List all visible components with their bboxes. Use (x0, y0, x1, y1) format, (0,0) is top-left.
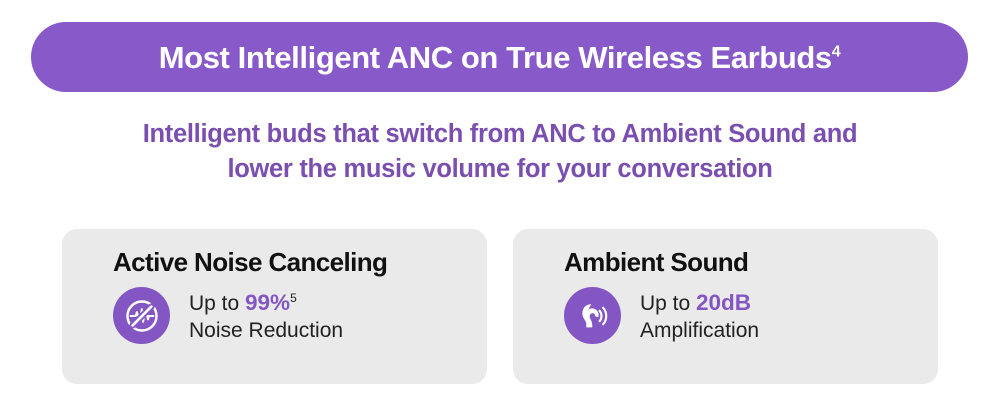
card-text-anc: Up to 99%5 Noise Reduction (189, 285, 343, 344)
card-stat-value-anc: 99% (245, 290, 290, 315)
card-active-noise-canceling: Active Noise Canceling (62, 229, 487, 384)
card-stat-prefix-ambient: Up to (640, 292, 696, 315)
subtitle-line-1: Intelligent buds that switch from ANC to… (0, 117, 1000, 152)
feature-cards: Active Noise Canceling (62, 229, 938, 384)
card-title-ambient: Ambient Sound (564, 249, 748, 275)
card-text-ambient: Up to 20dB Amplification (640, 285, 759, 344)
card-description-ambient: Amplification (640, 317, 759, 344)
ear-sound-icon (564, 287, 621, 344)
card-stat-anc: Up to 99%5 (189, 289, 343, 317)
banner-footnote-marker: 4 (832, 43, 841, 60)
promo-panel: Most Intelligent ANC on True Wireless Ea… (0, 0, 1000, 419)
card-title-anc: Active Noise Canceling (113, 249, 387, 275)
card-ambient-sound: Ambient Sound Up to 20dB Amplification (513, 229, 938, 384)
subtitle-line-2: lower the music volume for your conversa… (0, 152, 1000, 187)
card-stat-value-ambient: 20dB (696, 290, 751, 315)
subtitle: Intelligent buds that switch from ANC to… (0, 117, 1000, 187)
banner-title-text: Most Intelligent ANC on True Wireless Ea… (159, 40, 832, 75)
card-stat-ambient: Up to 20dB (640, 289, 759, 317)
card-description-anc: Noise Reduction (189, 317, 343, 344)
card-body-ambient: Up to 20dB Amplification (564, 285, 759, 344)
card-stat-prefix-anc: Up to (189, 292, 245, 315)
banner-title: Most Intelligent ANC on True Wireless Ea… (159, 42, 841, 73)
card-stat-footnote-anc: 5 (290, 291, 297, 305)
card-body-anc: Up to 99%5 Noise Reduction (113, 285, 343, 344)
noise-cancel-icon (113, 287, 170, 344)
banner-headline: Most Intelligent ANC on True Wireless Ea… (31, 22, 968, 92)
